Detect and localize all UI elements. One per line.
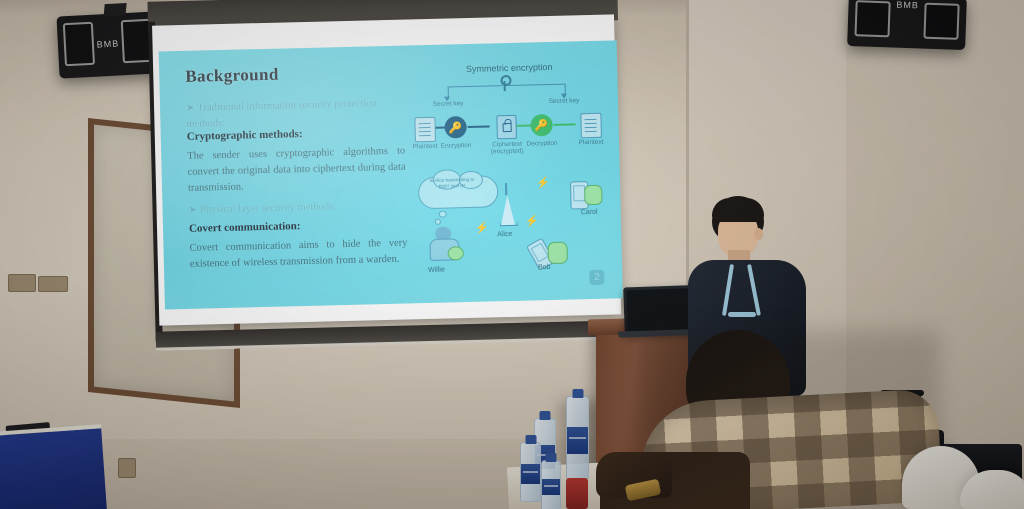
slide-page-number: 2 xyxy=(589,270,604,285)
bottle-cap-icon xyxy=(525,435,536,444)
bracket-right xyxy=(509,84,566,98)
slide-heading-cryptographic: Cryptographic methods: xyxy=(187,128,303,143)
node-label-decryption: Decryption xyxy=(521,140,563,148)
jamming-signal-icon: ⚡ xyxy=(475,222,489,235)
bottle-cap-icon xyxy=(546,453,557,462)
speaker-mount-icon xyxy=(104,3,127,16)
alice-transmitter-tower-icon xyxy=(494,183,521,228)
wall-speaker-right: BMB xyxy=(847,0,967,50)
lanyard-badge xyxy=(728,312,756,317)
encryption-node-icon: 🔑 xyxy=(444,116,467,139)
slide-paragraph-cryptographic: The sender uses cryptographic algorithms… xyxy=(187,144,406,197)
wall-outlet xyxy=(38,276,68,292)
slide-title: Background xyxy=(185,65,279,87)
covert-communication-diagram: Is Alice transmitting to Bob? Isn’t it? … xyxy=(412,167,615,288)
bottle-label xyxy=(542,479,560,496)
diagram-title: Symmetric encryption xyxy=(411,61,607,76)
bottle-cap-icon xyxy=(540,411,551,420)
decryption-node-icon: 🔑 xyxy=(530,114,553,137)
slide-bullet-physical-layer: ➤Physical layer security methods: xyxy=(188,197,416,218)
bob-person-icon xyxy=(547,242,568,264)
secret-key-label-right: Secret key xyxy=(542,97,586,106)
wall-outlet xyxy=(8,274,36,292)
wall-speaker-left: BMB xyxy=(56,11,159,78)
bracket-left xyxy=(448,85,503,99)
presenter-ear xyxy=(754,228,763,240)
plaintext-document-icon xyxy=(414,117,436,143)
bottle-label xyxy=(521,464,540,484)
actor-label-bob: Bob xyxy=(538,264,551,271)
bullet-arrow-icon: ➤ xyxy=(186,103,195,114)
thought-bubble-icon xyxy=(435,219,441,225)
conference-room-photo: BMB BMB Background ➤Traditional informat… xyxy=(0,0,1024,509)
actor-label-willie: Willie xyxy=(428,267,445,274)
plaintext-document-icon xyxy=(580,113,602,139)
flow-arrow xyxy=(468,125,490,128)
red-cup xyxy=(566,478,588,509)
signal-icon: ⚡ xyxy=(536,176,550,189)
presenter-hair-front xyxy=(712,198,764,222)
slide-heading-covert: Covert communication: xyxy=(189,220,301,235)
bottle-label xyxy=(567,427,588,455)
thought-bubble-icon xyxy=(439,211,447,218)
flow-arrow xyxy=(554,123,576,126)
projection-screen: Background ➤Traditional information secu… xyxy=(147,0,626,378)
thought-cloud-text: Is Alice transmitting to Bob? Isn’t it? xyxy=(424,177,480,190)
actor-label-carol: Carol xyxy=(581,209,598,216)
actor-label-alice: Alice xyxy=(497,231,512,238)
screen-bottom-bar xyxy=(156,320,626,350)
slide-paragraph-covert: Covert communication aims to hide the ve… xyxy=(189,236,408,273)
slide-bullet-traditional-methods: ➤Traditional information security protec… xyxy=(186,96,405,132)
carol-person-icon xyxy=(584,185,602,205)
water-bottle xyxy=(566,396,589,480)
screen-surface: Background ➤Traditional information secu… xyxy=(152,14,621,325)
slide-bullet-1-text: Traditional information security protect… xyxy=(186,98,377,129)
blue-skirted-table xyxy=(0,424,107,509)
bottle-cap-icon xyxy=(572,389,583,398)
water-bottle xyxy=(541,460,561,509)
bullet-arrow-icon: ➤ xyxy=(188,205,197,216)
presentation-slide: Background ➤Traditional information secu… xyxy=(159,40,623,309)
water-bottle xyxy=(520,442,541,502)
wall-outlet xyxy=(118,458,136,478)
node-label-encryption: Encryption xyxy=(435,142,477,150)
ciphertext-lock-icon xyxy=(496,115,517,139)
signal-icon: ⚡ xyxy=(525,214,539,227)
node-label-plaintext-right: Plaintext xyxy=(571,139,611,147)
slide-bullet-2-text: Physical layer security methods: xyxy=(200,201,336,215)
secret-key-label-left: Secret key xyxy=(426,100,470,109)
symmetric-encryption-diagram: Symmetric encryption Secret key Secret k… xyxy=(411,61,610,174)
